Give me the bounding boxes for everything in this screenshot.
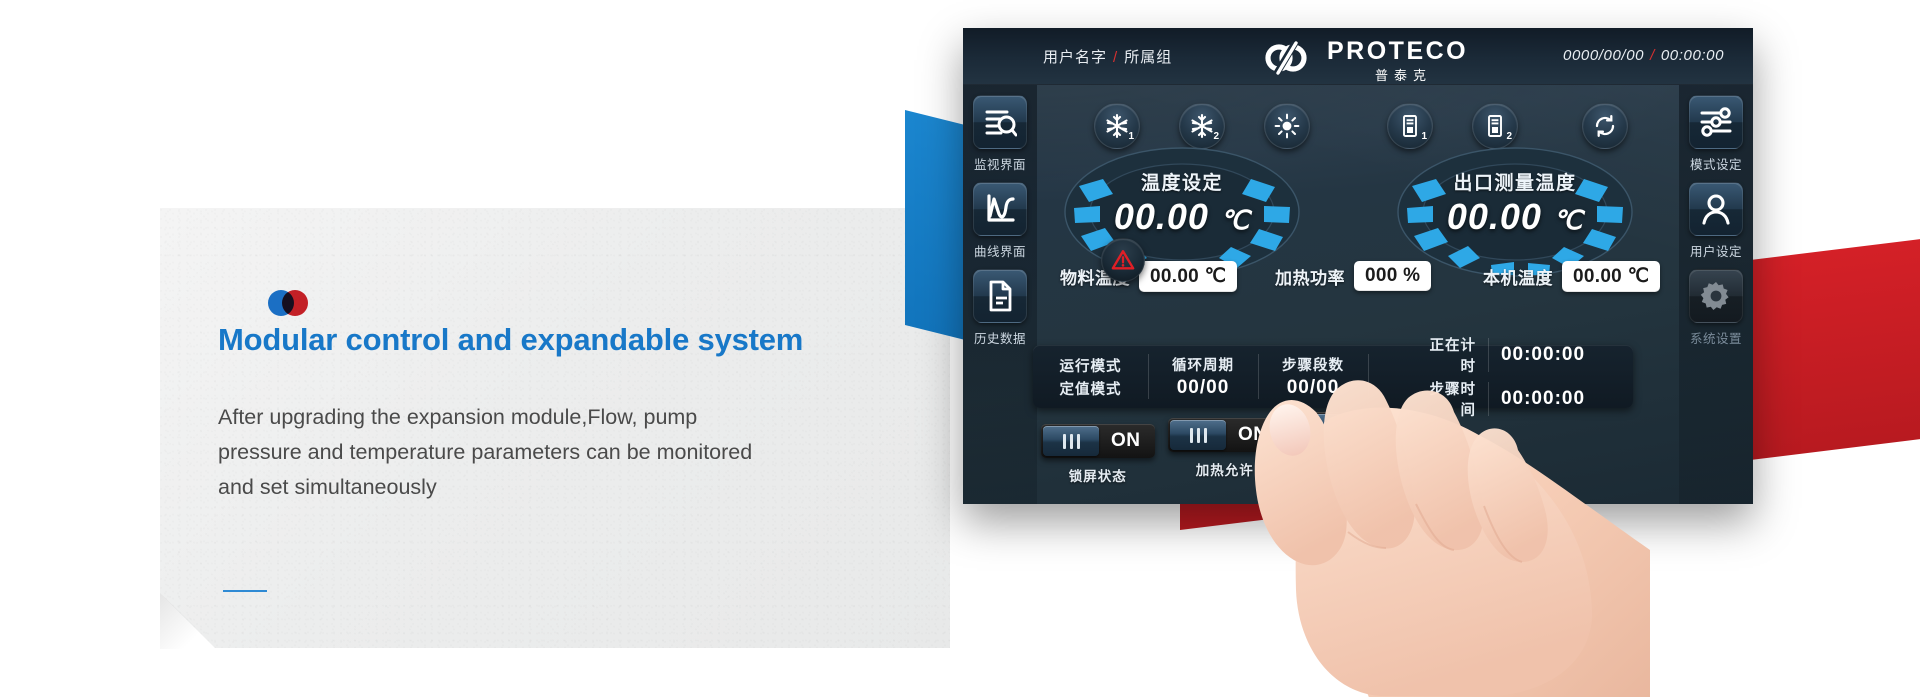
gauge-outlet-title: 出口测量温度 [1396,168,1634,195]
readout-machine-temperature-label: 本机温度 [1483,264,1553,289]
proteco-infinity-icon [1255,40,1317,76]
status-button-heater[interactable] [1264,103,1310,149]
datetime-separator: / [1650,47,1655,64]
curve-chart-icon [973,182,1027,236]
right-nav-rail: 模式设定 用户设定 系统设置 [1679,85,1753,504]
pump-icon [1397,113,1423,139]
sidebar-item-curve[interactable]: 曲线界面 [963,182,1037,260]
warning-triangle-icon [1111,248,1135,272]
document-history-icon [973,269,1027,323]
brand-name: PROTECO [1327,37,1468,66]
sidebar-item-monitor-label: 监视界面 [963,154,1037,173]
gauge-setpoint-unit: ℃ [1220,205,1250,235]
pump-icon [1482,113,1508,139]
brand-name-cn: 普泰克 [1375,65,1432,84]
readout-material-temperature[interactable]: 物料温度 00.00 ℃ [1060,261,1237,292]
sidebar-item-user-settings[interactable]: 用户设定 [1679,182,1753,260]
toggle-screen-lock-label: 锁屏状态 [1041,465,1155,485]
hmi-header-bar: 用户名字/所属组 PROTECO 普泰克 0000/00/00/00:00:00 [963,28,1753,85]
sidebar-item-history-label: 历史数据 [963,328,1037,347]
user-identity: 用户名字/所属组 [1043,46,1172,67]
user-group: 所属组 [1124,49,1172,66]
sidebar-item-monitor[interactable]: 监视界面 [963,95,1037,173]
date-value: 0000/00/00 [1563,47,1644,64]
status-button-pump-1-index: 1 [1421,131,1427,142]
status-button-circulate[interactable] [1582,103,1628,149]
gauge-setpoint-number: 00.00 [1114,196,1209,237]
left-nav-rail: 监视界面 曲线界面 历史数据 [963,85,1037,504]
sliders-icon [1689,95,1743,149]
datetime-display: 0000/00/00/00:00:00 [1563,47,1724,64]
sidebar-item-history[interactable]: 历史数据 [963,269,1037,347]
gauge-outlet-unit: ℃ [1553,205,1583,235]
sidebar-item-system-settings-label: 系统设置 [1679,328,1753,347]
user-icon [1689,182,1743,236]
readout-heating-power[interactable]: 加热功率 000 % [1275,261,1431,291]
toggle-screen-lock-state: ON [1101,430,1155,452]
alarm-button[interactable] [1101,238,1145,282]
status-col-run-mode-value: 定值模式 [1060,378,1122,399]
readout-heating-power-label: 加热功率 [1275,264,1345,289]
gauge-setpoint-value: 00.00 ℃ [1063,196,1301,238]
sidebar-item-curve-label: 曲线界面 [963,241,1037,260]
page-title: Modular control and expandable system [218,322,918,358]
toggle-screen-lock[interactable]: ON 锁屏状态 [1041,424,1155,485]
brand-logo: PROTECO 普泰克 [1255,34,1505,82]
venn-circle-red [282,290,308,316]
status-button-pump-2[interactable]: 2 [1472,103,1518,149]
readout-heating-power-value: 000 % [1354,261,1431,291]
venn-logo-icon [268,290,310,316]
status-button-chiller-1-index: 1 [1128,131,1134,142]
sidebar-item-system-settings[interactable]: 系统设置 [1679,269,1753,347]
gauge-setpoint-title: 温度设定 [1063,168,1301,195]
slide-root: Modular control and expandable system Af… [0,0,1920,697]
gauge-temperature-setpoint[interactable]: 温度设定 00.00 ℃ [1063,146,1301,278]
hand-pointing-illustration [1190,300,1650,697]
readout-machine-temperature[interactable]: 本机温度 00.00 ℃ [1483,261,1660,292]
refresh-icon [1592,113,1618,139]
promo-body-text: After upgrading the expansion module,Flo… [218,400,763,505]
toggle-screen-lock-switch[interactable]: ON [1041,424,1155,458]
status-button-chiller-1[interactable]: 1 [1094,103,1140,149]
user-name: 用户名字 [1043,49,1107,66]
toggle-handle-icon [1043,426,1099,456]
readout-material-temperature-value: 00.00 ℃ [1139,261,1237,292]
status-col-run-mode-head: 运行模式 [1060,355,1122,376]
snowflake-icon [1189,113,1215,139]
sidebar-item-mode-settings[interactable]: 模式设定 [1679,95,1753,173]
sidebar-item-mode-settings-label: 模式设定 [1679,154,1753,173]
status-button-chiller-2[interactable]: 2 [1179,103,1225,149]
gauge-outlet-temperature[interactable]: 出口测量温度 00.00 ℃ [1396,146,1634,278]
gauge-outlet-number: 00.00 [1447,196,1542,237]
status-button-chiller-2-index: 2 [1213,131,1219,142]
sun-icon [1274,113,1300,139]
identity-separator: / [1113,49,1118,66]
status-col-run-mode[interactable]: 运行模式 定值模式 [1033,345,1148,408]
sidebar-item-user-settings-label: 用户设定 [1679,241,1753,260]
time-value: 00:00:00 [1661,47,1724,64]
readout-machine-temperature-value: 00.00 ℃ [1562,261,1660,292]
gauge-outlet-value: 00.00 ℃ [1396,196,1634,238]
status-button-pump-2-index: 2 [1506,131,1512,142]
snowflake-icon [1104,113,1130,139]
accent-divider [223,590,267,592]
gear-icon [1689,269,1743,323]
status-button-pump-1[interactable]: 1 [1387,103,1433,149]
monitor-search-icon [973,95,1027,149]
